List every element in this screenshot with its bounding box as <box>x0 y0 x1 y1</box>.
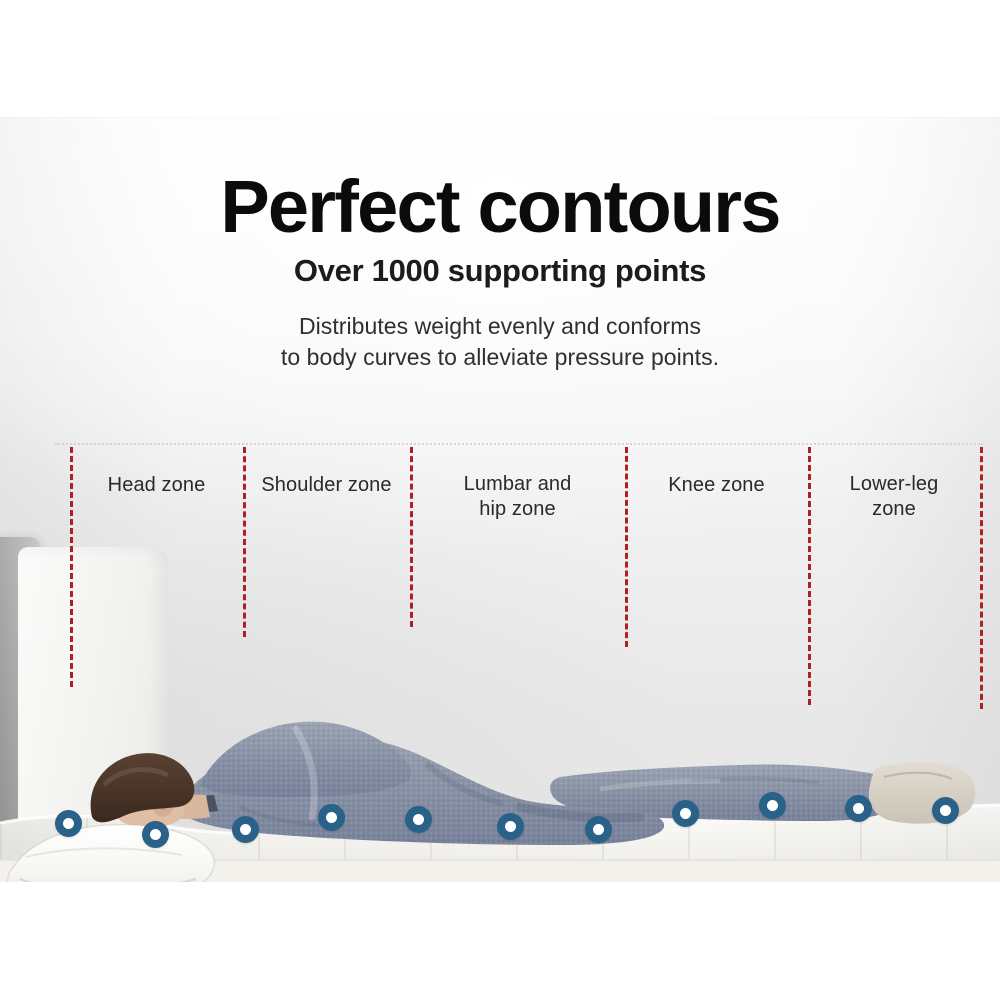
pillow <box>6 817 218 882</box>
page-subtitle: Over 1000 supporting points <box>0 253 1000 289</box>
page-title: Perfect contours <box>0 168 1000 246</box>
promo-image: Perfect contours Over 1000 supporting po… <box>0 0 1000 1000</box>
page-description: Distributes weight evenly and conforms t… <box>0 311 1000 373</box>
